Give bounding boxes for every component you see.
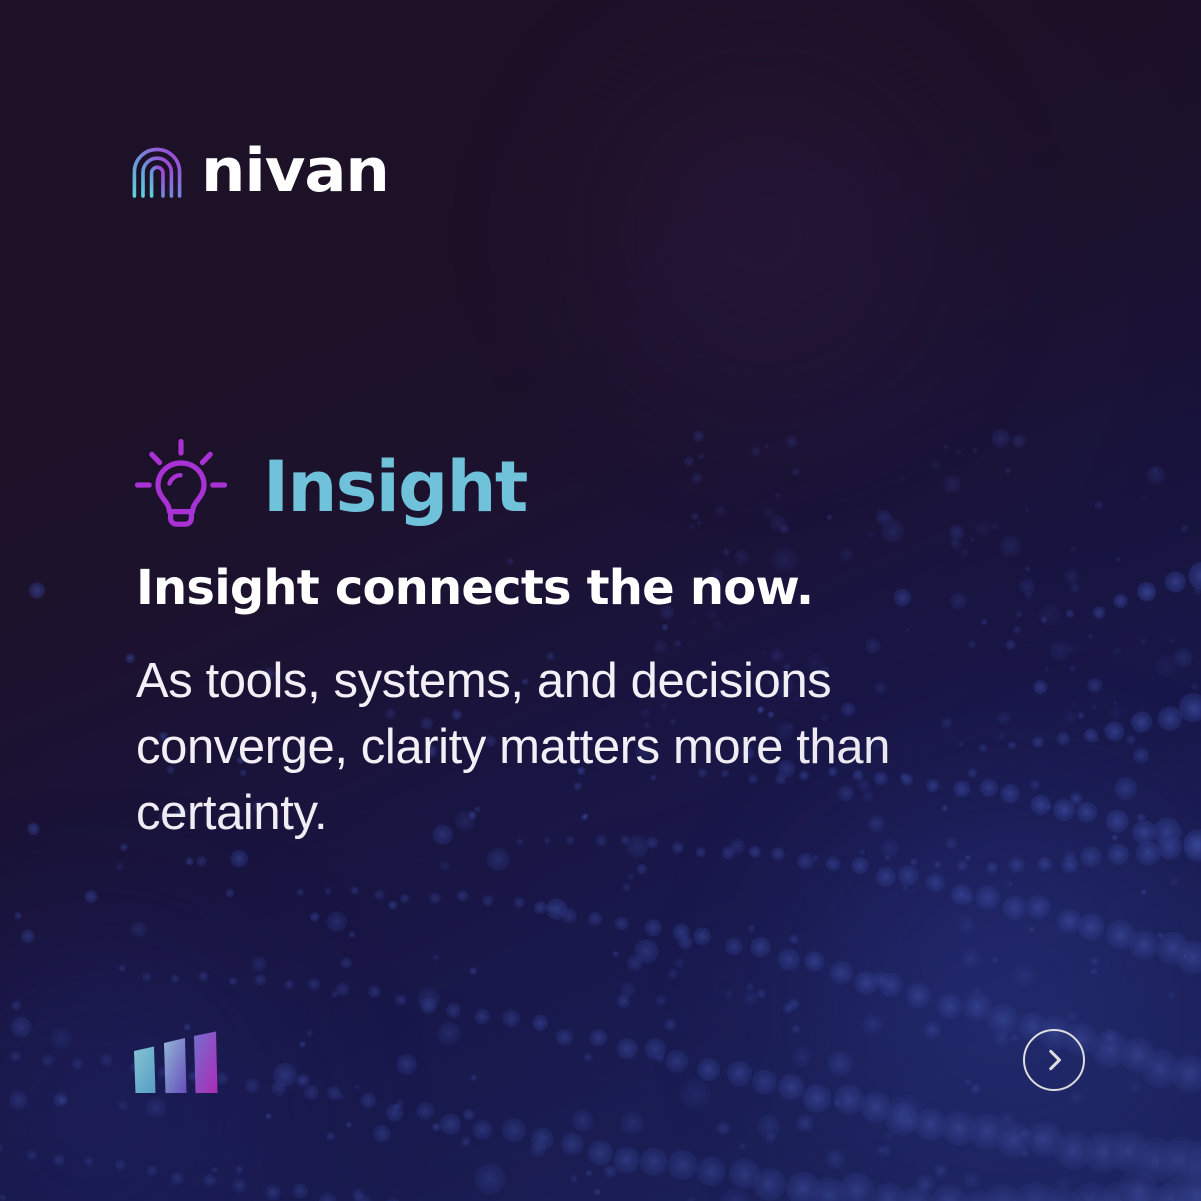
chevron-right-icon (1041, 1047, 1067, 1073)
insight-eyebrow: Insight (131, 437, 527, 537)
eyebrow-label: Insight (263, 452, 527, 522)
insight-card: nivan Insight Insight connects the now. … (0, 0, 1201, 1201)
bar-chart-icon (131, 1031, 225, 1096)
brand-wordmark: nivan (201, 141, 389, 201)
body-text: As tools, systems, and decisions converg… (136, 648, 966, 846)
nivan-arch-logo-icon (131, 145, 183, 198)
lightbulb-icon (131, 437, 231, 537)
brand-logo[interactable]: nivan (131, 141, 382, 201)
next-slide-button[interactable] (1023, 1029, 1085, 1091)
headline: Insight connects the now. (136, 562, 1036, 616)
